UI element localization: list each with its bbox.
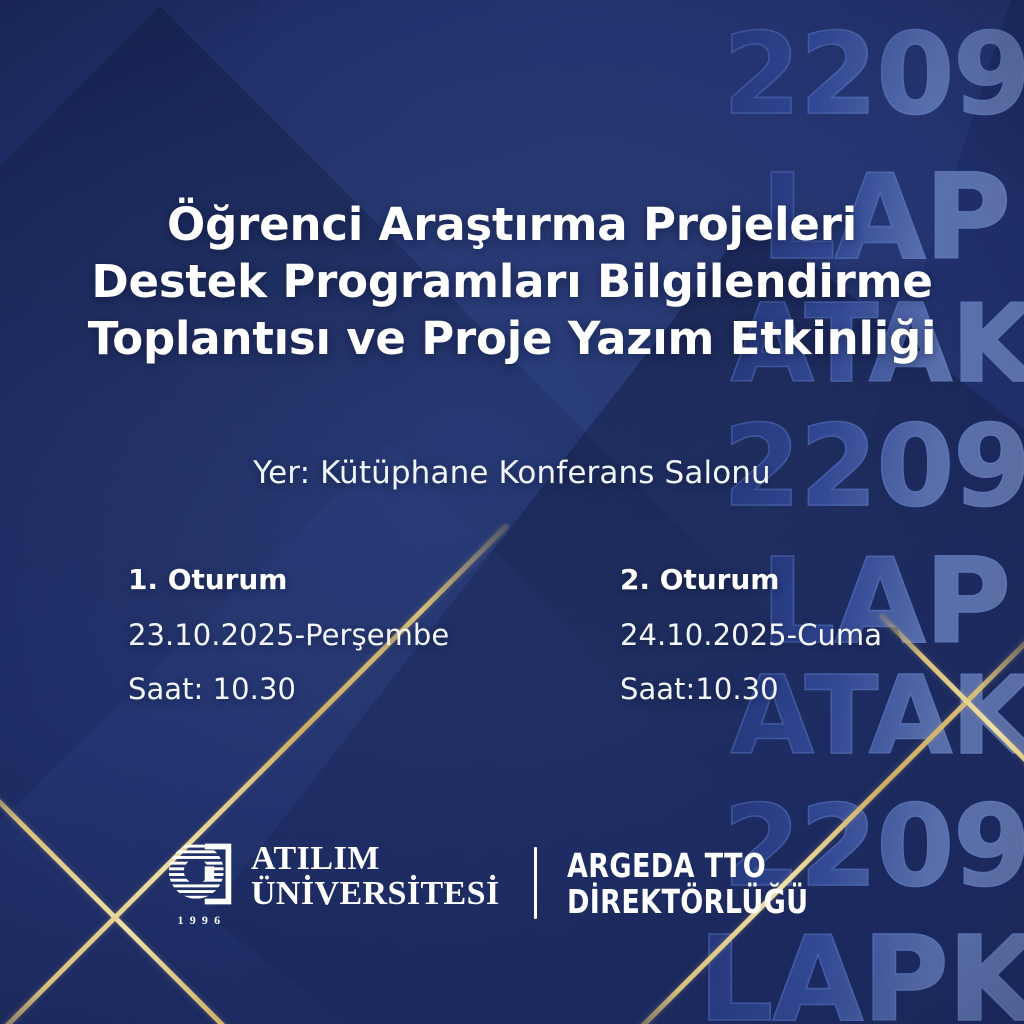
emblem-group: 1996 (163, 838, 237, 928)
atilim-emblem-icon (163, 838, 237, 910)
session-date: 24.10.2025-Cuma (620, 618, 1024, 652)
logo-divider (534, 847, 537, 919)
title-line-1: Öğrenci Araştırma Projeleri (52, 196, 972, 253)
founded-year: 1996 (173, 913, 226, 928)
university-name-line-2: ÜNİVERSİTESİ (251, 877, 500, 912)
title-line-2: Destek Programları Bilgilendirme (52, 253, 972, 310)
sessions-row: 1. Oturum 23.10.2025-Perşembe Saat: 10.3… (0, 563, 1024, 706)
office-name-line-2: DİREKTÖRLÜĞÜ (567, 884, 808, 920)
session-title: 1. Oturum (128, 563, 620, 596)
session-time: Saat:10.30 (620, 672, 1024, 706)
argeda-tto-logo: ARGEDA TTO DİREKTÖRLÜĞÜ (567, 846, 861, 919)
event-poster: 2209 LAP ATAK 2209 LAP ATAK 2209 LAPK Öğ… (0, 0, 1024, 1024)
university-name-line-1: ATILIM (251, 842, 500, 877)
page-title: Öğrenci Araştırma Projeleri Destek Progr… (0, 196, 1024, 367)
session-block-2: 2. Oturum 24.10.2025-Cuma Saat:10.30 (620, 563, 1024, 706)
atilim-university-logo: 1996 ATILIM ÜNİVERSİTESİ (163, 838, 500, 928)
venue-text: Yer: Kütüphane Konferans Salonu (0, 455, 1024, 491)
session-time: Saat: 10.30 (128, 672, 620, 706)
session-title: 2. Oturum (620, 563, 1024, 596)
footer-logos: 1996 ATILIM ÜNİVERSİTESİ ARGEDA TTO DİRE… (0, 838, 1024, 928)
university-name: ATILIM ÜNİVERSİTESİ (251, 838, 500, 911)
office-name-line-1: ARGEDA TTO (567, 848, 808, 884)
session-date: 23.10.2025-Perşembe (128, 618, 620, 652)
poster-content: Öğrenci Araştırma Projeleri Destek Progr… (0, 0, 1024, 1024)
title-line-3: Toplantısı ve Proje Yazım Etkinliği (52, 310, 972, 367)
session-block-1: 1. Oturum 23.10.2025-Perşembe Saat: 10.3… (128, 563, 620, 706)
